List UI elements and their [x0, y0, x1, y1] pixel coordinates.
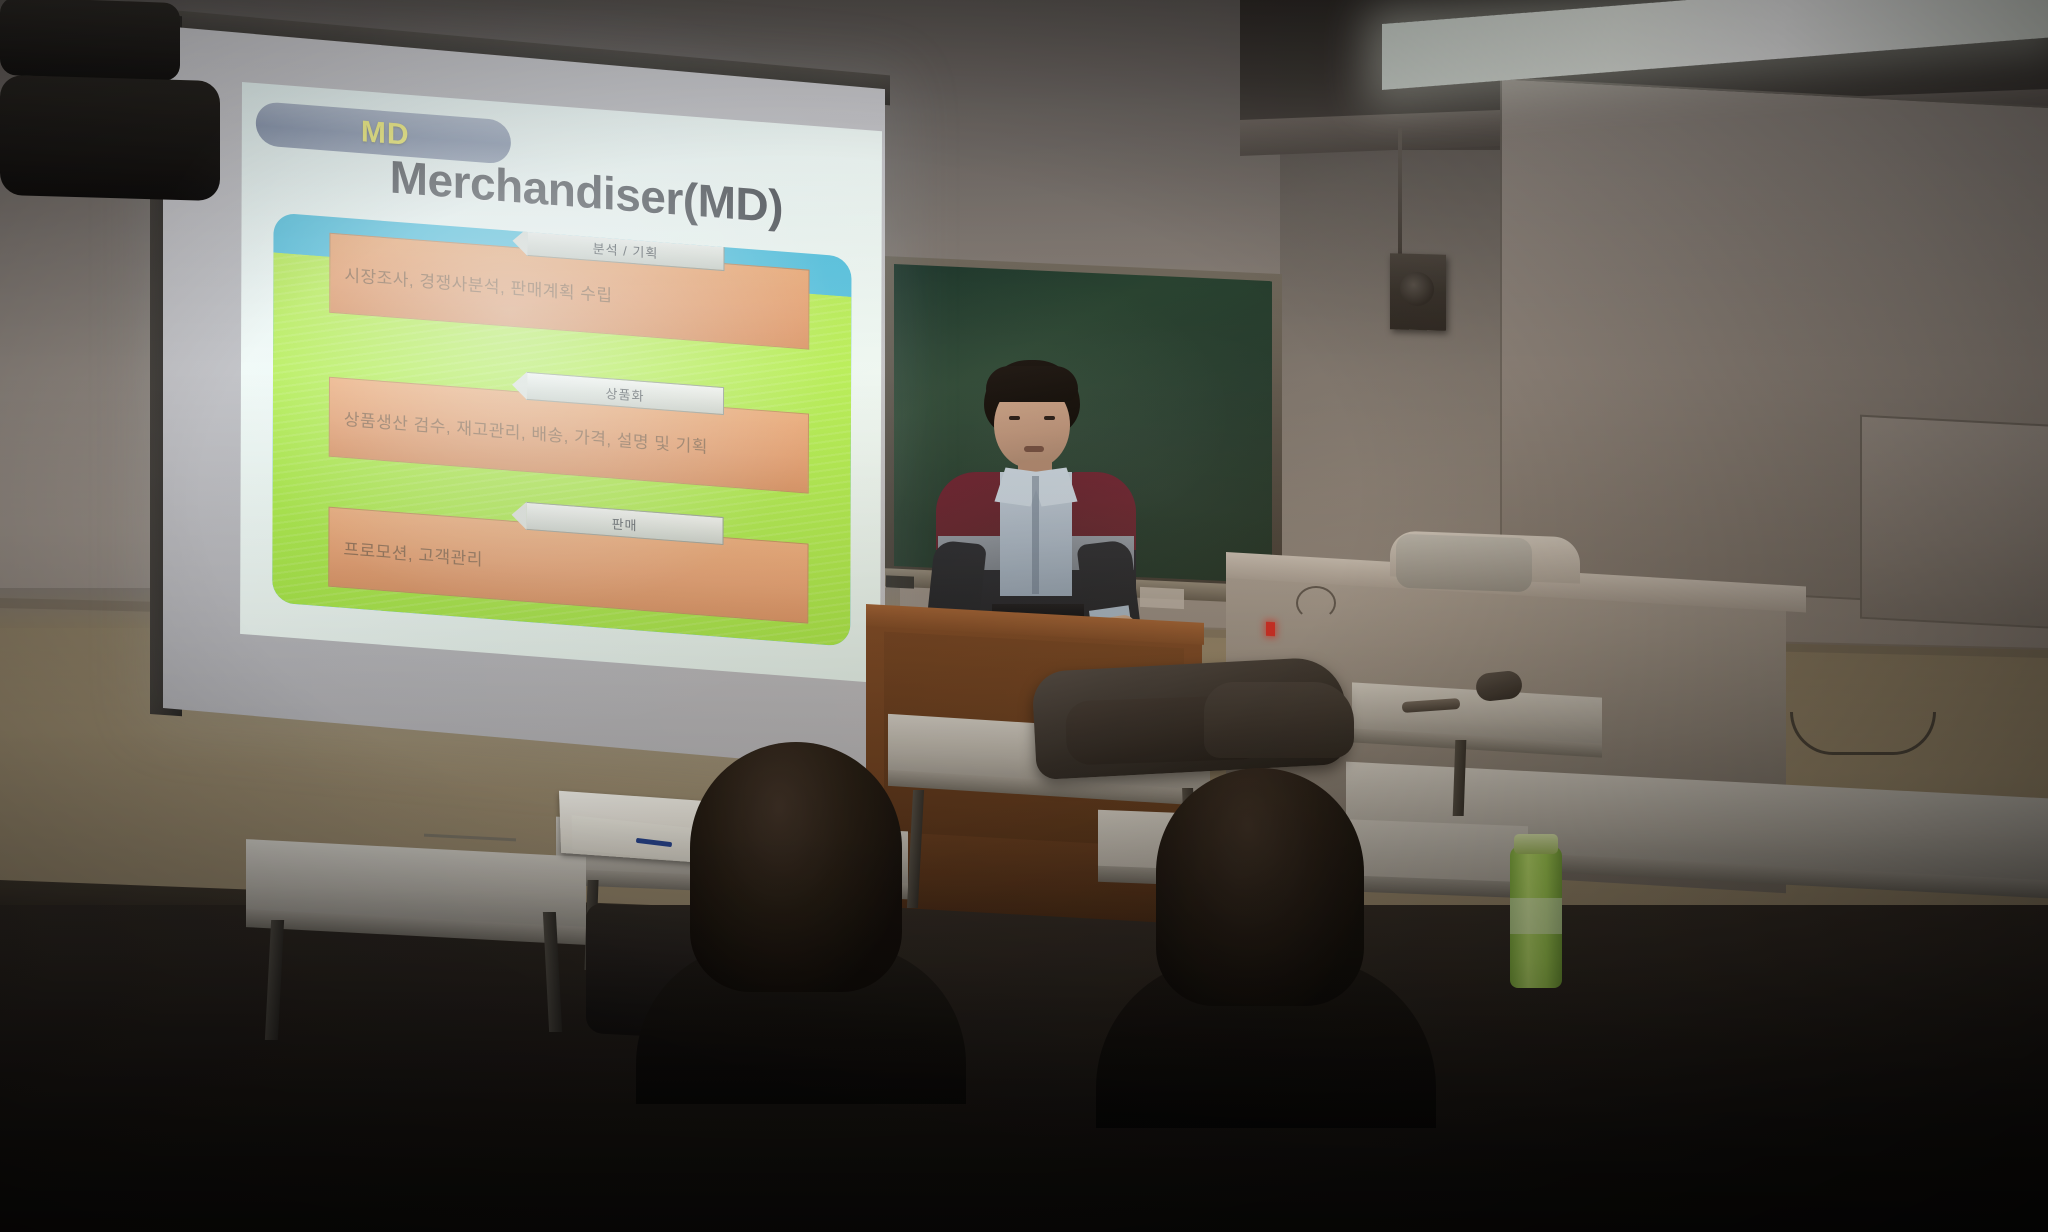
presenter	[930, 360, 1140, 640]
diagram-row-text: 프로모션, 고객관리	[343, 535, 483, 571]
wall-speaker-icon	[1390, 253, 1446, 331]
presenter-hair-fringe	[986, 366, 1078, 402]
classroom-scene: MD Merchandiser(MD) 시장조사, 경쟁사분석, 판매계획 수립…	[0, 0, 2048, 1232]
presenter-eye-right	[1044, 416, 1055, 420]
presenter-mouth	[1024, 446, 1044, 452]
wall-plate	[1140, 587, 1184, 609]
slide-badge-label: MD	[361, 115, 410, 153]
cable-loop	[1296, 586, 1336, 620]
floor	[0, 905, 2048, 1232]
bottle-cap	[1514, 834, 1558, 854]
slide-title: Merchandiser(MD)	[390, 149, 783, 233]
student-head	[690, 742, 902, 992]
bottle-label	[1510, 898, 1562, 934]
shirt-placket	[1032, 476, 1039, 594]
chair-back	[0, 0, 180, 81]
power-led-icon	[1266, 622, 1275, 637]
presenter-eye-left	[1009, 416, 1020, 420]
diagram-row-text: 시장조사, 경쟁사분석, 판매계획 수립	[344, 261, 612, 307]
student-head	[1156, 768, 1364, 1006]
wall-panel-small	[1860, 415, 2048, 630]
chair-back	[0, 75, 220, 201]
speaker-mount-rod	[1398, 128, 1402, 256]
chair-back	[1396, 534, 1532, 593]
diagram-row-text: 상품생산 검수, 재고관리, 배송, 가격, 설명 및 기획	[344, 405, 708, 458]
presentation-slide: MD Merchandiser(MD) 시장조사, 경쟁사분석, 판매계획 수립…	[240, 82, 882, 683]
cable	[1790, 712, 1936, 755]
eraser	[886, 575, 914, 588]
jacket	[1204, 682, 1354, 758]
slide-diagram-panel: 시장조사, 경쟁사분석, 판매계획 수립 분석 / 기획 상품생산 검수, 재고…	[272, 212, 851, 646]
speaker-cone	[1400, 271, 1434, 306]
